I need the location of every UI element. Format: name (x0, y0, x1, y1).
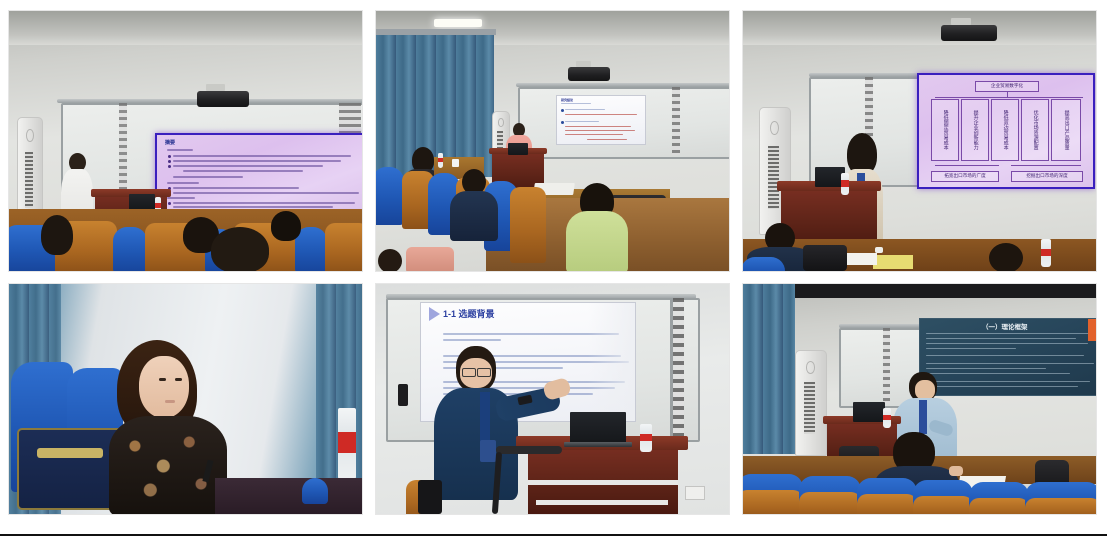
seat (113, 227, 147, 272)
ceiling-beam (743, 284, 1096, 298)
page-root: 摘要 (0, 0, 1107, 541)
water-bottle (883, 408, 891, 428)
presenter-face (915, 380, 935, 400)
projector (197, 91, 249, 107)
laptop (570, 412, 626, 444)
laptop-base (564, 442, 632, 447)
bag (418, 480, 442, 514)
air-conditioner (795, 350, 827, 456)
diagram-column-heading: 降低固定贸易成本 (931, 99, 959, 161)
bag (406, 247, 454, 272)
slide-title: 研究结论 (561, 98, 573, 102)
projected-slide: （一）理论框架 (919, 318, 1097, 396)
audience-head (211, 227, 269, 272)
slide-title: 摘要 (165, 139, 175, 146)
attendee-eye (159, 378, 166, 381)
diagram-column-heading: 降低双边贸易成本 (991, 99, 1019, 161)
diagram-column-heading: 提高出口产品质量 (1051, 99, 1081, 161)
diagram-footer: 拓宽出口市场的广度 (931, 171, 999, 182)
slide-title: （一）理论框架 (982, 321, 1028, 331)
photo-tile[interactable]: （一）理论框架 (742, 283, 1097, 515)
seat (857, 494, 917, 515)
attendee-eye (175, 378, 182, 381)
seat (913, 496, 973, 515)
bag-handle (37, 448, 103, 458)
whiteboard-divider-strip (883, 328, 890, 404)
ceiling-light (434, 19, 482, 27)
seat (1025, 498, 1097, 515)
water-bottle (438, 153, 443, 168)
seat (325, 223, 363, 272)
lectern-trim (528, 480, 678, 485)
attendee-mouth (165, 400, 175, 403)
seat (375, 167, 404, 225)
seat (742, 490, 803, 515)
curtain-rail (376, 29, 496, 35)
audience-head (41, 215, 73, 255)
whiteboard-divider-strip (672, 298, 684, 438)
water-bottle (841, 173, 849, 195)
water-bottle (640, 424, 652, 452)
badge (480, 440, 496, 462)
table-surface (215, 478, 362, 514)
audience-head (378, 249, 402, 272)
glasses-icon (477, 368, 491, 377)
projected-slide: 企业贸易数字化 降低固定贸易成本 提升企业创新能力 降低双边贸易成本 优化市场资… (917, 73, 1095, 189)
paper-cup (452, 159, 459, 167)
diagram-column-heading: 优化市场资源配置 (1021, 99, 1049, 161)
microphone (398, 384, 408, 406)
window-curtain (376, 31, 494, 177)
projected-slide: 摘要 (155, 133, 363, 215)
slide-accent-bar (1088, 319, 1096, 341)
attendee-face (139, 356, 189, 418)
photo-tile[interactable]: 摘要 (8, 10, 363, 272)
ceiling (9, 11, 362, 45)
slide-arrow-icon (429, 307, 440, 321)
photo-tile[interactable]: 企业贸易数字化 降低固定贸易成本 提升企业创新能力 降低双边贸易成本 优化市场资… (742, 10, 1097, 272)
slide-title: 1-1 选题背景 (443, 307, 495, 320)
photo-tile[interactable]: 研究结论 (375, 10, 730, 272)
diagram-footer: 挖掘出口市场的深度 (1011, 171, 1083, 182)
paper (843, 253, 877, 265)
whiteboard-edge (670, 298, 673, 438)
laptop (853, 402, 885, 422)
whiteboard-divider-strip (672, 87, 680, 155)
lectern-trim (536, 500, 668, 505)
footer-divider (0, 534, 1107, 536)
paper-cup (875, 247, 883, 253)
slide-glare (588, 303, 635, 421)
power-outlet (685, 486, 705, 500)
lanyard (919, 400, 927, 434)
seat (302, 478, 328, 504)
audience-head (271, 211, 301, 241)
bag (803, 245, 847, 271)
diagram-root: 企业贸易数字化 (975, 81, 1039, 92)
water-bottle (338, 408, 356, 480)
ceiling (743, 11, 1096, 45)
audience-head (989, 243, 1023, 272)
photo-tile[interactable]: 1-1 选题背景 (375, 283, 730, 515)
lanyard (480, 392, 490, 442)
projector (568, 67, 610, 81)
seat (969, 498, 1029, 515)
seat (510, 187, 546, 263)
photo-tile[interactable] (8, 283, 363, 515)
water-bottle (1041, 239, 1051, 267)
glasses-icon (462, 368, 476, 377)
laptop (508, 143, 528, 155)
audience-body (566, 211, 628, 272)
cable (496, 446, 562, 454)
projector (941, 25, 997, 41)
attendee-hand (949, 466, 963, 476)
audience-body (450, 191, 498, 241)
seat (742, 257, 785, 272)
seat (799, 492, 861, 515)
window-curtain (743, 284, 795, 454)
projected-slide: 研究结论 (556, 95, 646, 145)
photo-grid: 摘要 (8, 10, 1099, 515)
paper-folder (873, 255, 913, 269)
diagram-column-heading: 提升企业创新能力 (961, 99, 989, 161)
